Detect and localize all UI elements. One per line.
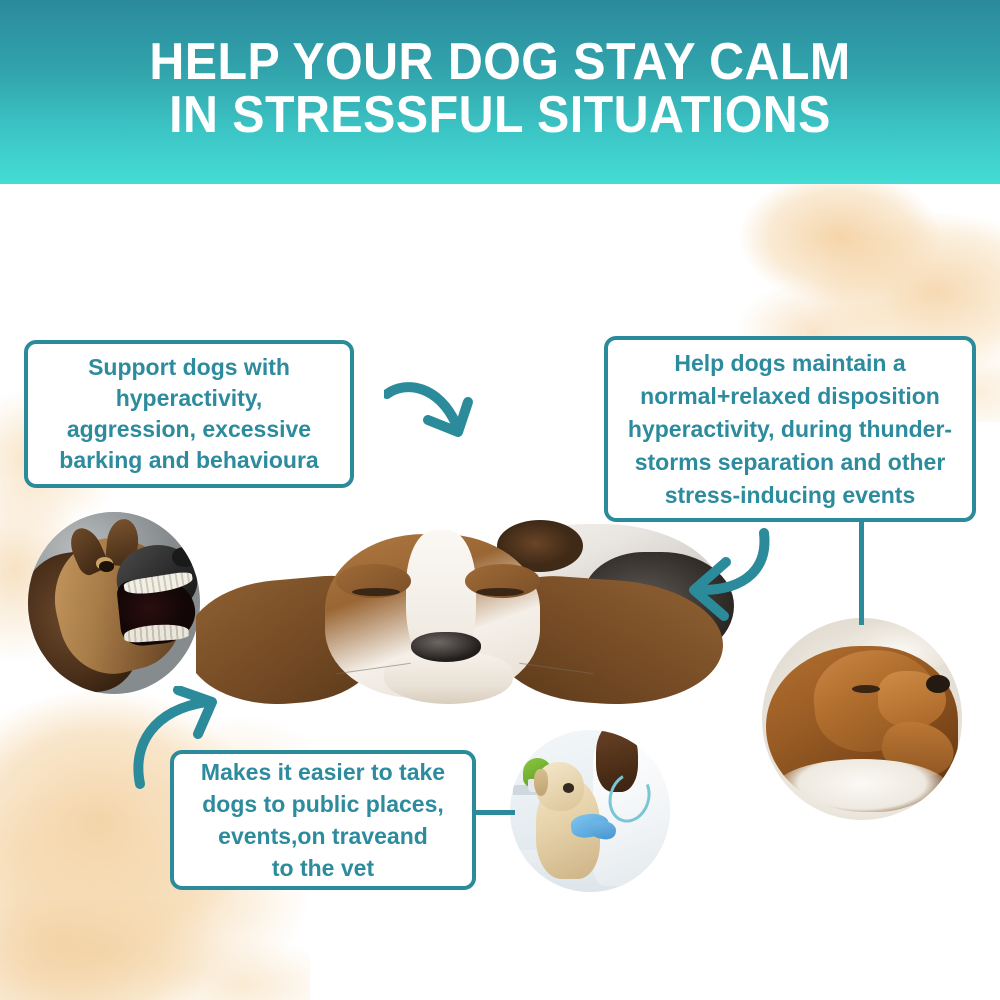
puppy-closed-eye: [852, 685, 880, 693]
photo-sleeping-puppy: [762, 618, 962, 820]
header-banner: HELP YOUR DOG STAY CALM IN STRESSFUL SIT…: [0, 0, 1000, 184]
puppy-nose: [926, 675, 950, 693]
callout-travel-and-vet: Makes it easier to take dogs to public p…: [170, 750, 476, 890]
connector-line-relax-to-sleeping-puppy: [859, 520, 864, 625]
watercolor-wash-bottom-left-2: [0, 900, 310, 1000]
arrow-relax-to-dog-icon: [668, 528, 788, 633]
photo-aggressive-dog: [28, 512, 200, 694]
basset-eye-left: [352, 588, 400, 596]
photo-vet-examination: [510, 730, 670, 892]
dog-eye: [99, 561, 114, 572]
connector-line-travel-to-vet: [473, 810, 515, 815]
callout-support-dogs: Support dogs with hyperactivity, aggress…: [24, 340, 354, 488]
photo-basset-hound: [196, 520, 734, 720]
basset-eye-right: [476, 588, 524, 596]
poster-canvas: HELP YOUR DOG STAY CALM IN STRESSFUL SIT…: [0, 0, 1000, 1000]
dog-nose: [172, 547, 196, 567]
puppy-bed-fluff-bottom: [774, 759, 950, 820]
callout-relaxed-disposition: Help dogs maintain a normal+relaxed disp…: [604, 336, 976, 522]
arrow-support-to-dog-icon: [384, 372, 494, 467]
basset-nose: [411, 632, 481, 662]
page-title: HELP YOUR DOG STAY CALM IN STRESSFUL SIT…: [35, 36, 965, 142]
